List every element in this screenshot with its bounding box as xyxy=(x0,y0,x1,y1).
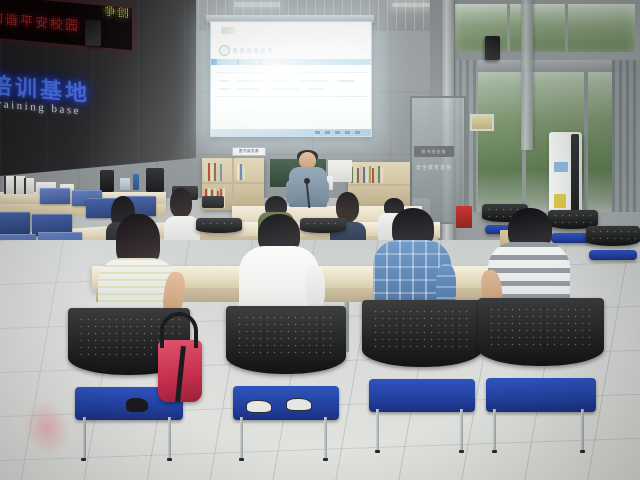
chair-leg xyxy=(324,417,327,460)
desk-item xyxy=(133,174,139,190)
chair-back xyxy=(226,306,346,374)
ac-vent-strip xyxy=(571,134,579,220)
wall-speaker-right xyxy=(485,36,500,60)
books-left-top xyxy=(205,163,222,181)
red-bin xyxy=(456,206,472,228)
chair-front-center[interactable] xyxy=(226,306,346,460)
chair-back xyxy=(196,218,242,233)
chair-seat xyxy=(369,379,475,412)
chair-back xyxy=(362,300,482,367)
chair-leg xyxy=(460,409,463,452)
chair-foot xyxy=(375,450,380,453)
chair-leg xyxy=(83,417,86,460)
wall-plaque-text: 图书阅览角 xyxy=(414,146,454,157)
microphone-head xyxy=(304,178,310,184)
chair-front-right[interactable] xyxy=(362,300,482,452)
clerestory-window xyxy=(455,4,635,52)
bookshelf-sign: 图书阅览角 xyxy=(232,147,266,156)
books-right-top xyxy=(351,166,383,183)
storage-crate xyxy=(40,188,70,204)
shoe xyxy=(126,398,148,412)
storage-crate xyxy=(0,212,30,234)
ceiling-light xyxy=(234,2,280,7)
chair-foot xyxy=(580,450,585,453)
chair-leg xyxy=(581,409,584,452)
chair-foot xyxy=(492,450,497,453)
printer-device xyxy=(202,196,224,208)
chair-foot xyxy=(81,458,86,461)
chair-leg xyxy=(376,409,379,452)
chair-front-far-right[interactable] xyxy=(478,298,604,452)
wall-plaque: 图书阅览角 xyxy=(414,146,454,157)
presenter-arm-right xyxy=(319,180,329,204)
books-left-mid xyxy=(237,164,245,180)
classroom-scene: 安全教育基地 图书阅览角 争创 和谐平安校园 培训基地 training bas… xyxy=(0,0,640,480)
chair-foot xyxy=(323,458,328,461)
presenter xyxy=(288,152,328,210)
chair-foot xyxy=(167,458,172,461)
chair-leg xyxy=(240,417,243,460)
wall-speaker-left xyxy=(85,20,101,47)
door-plaque-label: 安全教育基地 xyxy=(416,164,452,171)
chair-foot xyxy=(239,458,244,461)
chair-perforation xyxy=(488,306,594,347)
chair-foot xyxy=(459,450,464,453)
curtain-right xyxy=(612,60,640,212)
chair-perforation xyxy=(372,308,473,348)
structural-column-b xyxy=(521,0,533,150)
desk-item xyxy=(120,178,130,190)
computer-monitor xyxy=(146,168,164,192)
ac-display-panel xyxy=(554,162,568,172)
computer-monitor xyxy=(100,170,114,192)
bookshelf-sign-text: 图书阅览角 xyxy=(233,148,265,155)
binder-stack xyxy=(24,178,34,194)
shoe xyxy=(246,400,272,413)
handbag-strap xyxy=(160,312,198,348)
projector-screen xyxy=(210,21,372,137)
chair-back xyxy=(586,226,640,246)
window-large xyxy=(460,72,635,212)
chair-leg xyxy=(168,417,171,460)
ac-label-tag xyxy=(554,194,566,208)
handbag[interactable] xyxy=(152,312,204,404)
chair-perforation xyxy=(200,220,239,229)
chair-leg xyxy=(493,409,496,452)
chair-back xyxy=(478,298,604,366)
shoe xyxy=(286,398,312,411)
chair-seat xyxy=(589,250,637,260)
projector-glare xyxy=(211,22,371,136)
chair-perforation xyxy=(590,228,635,240)
illuminated-training-base-sign: 培训基地 training base xyxy=(0,67,140,136)
chair-perforation xyxy=(236,314,337,355)
chair-seat xyxy=(486,378,597,412)
arm-right xyxy=(306,266,325,310)
framed-picture xyxy=(470,114,494,131)
glass-door[interactable]: 安全教育基地 xyxy=(410,96,466,224)
chair-stacked-right[interactable] xyxy=(586,226,640,272)
ceiling-light xyxy=(392,3,430,7)
